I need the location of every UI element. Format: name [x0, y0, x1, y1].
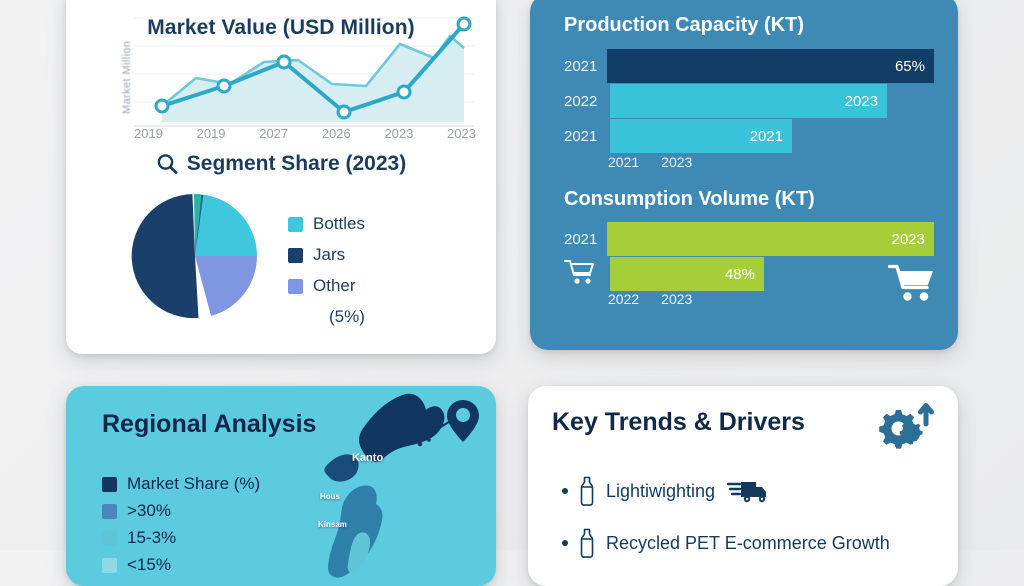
bar-value-label: 48% [725, 266, 764, 283]
bar-production-0: 65% [607, 49, 934, 83]
legend-item: >30% [102, 501, 260, 521]
map-label-hous: Hous [320, 492, 340, 501]
map-label-kanto: Kanto [352, 452, 383, 464]
legend-label: >30% [127, 501, 171, 521]
bar-row: 2022 2023 [564, 84, 934, 118]
bar-production-2: 2021 [610, 119, 792, 153]
map-pin-icon [447, 400, 479, 442]
regional-analysis-card: Kanto Hous Kinsam Regional Analysis Mark… [66, 386, 496, 586]
legend-label: Jars [313, 245, 345, 265]
regional-analysis-title: Regional Analysis [102, 410, 316, 439]
legend-swatch-market-share [102, 477, 117, 492]
line-chart-x-axis: 2019 2019 2027 2026 2023 2023 [134, 126, 476, 141]
legend-label: 15-3% [127, 528, 176, 548]
bar-label: 2022 [564, 93, 610, 110]
production-capacity-title: Production Capacity (KT) [564, 14, 804, 37]
bar-label: 2021 [564, 58, 607, 75]
market-value-line-chart [134, 10, 474, 128]
delivery-truck-icon [727, 477, 769, 505]
production-x-axis: 2021 2023 [608, 154, 692, 170]
legend-item: <15% [102, 555, 260, 575]
bar-production-1: 2023 [610, 84, 887, 118]
legend-item: Jars [288, 245, 365, 265]
pie-slice-jars [132, 194, 199, 318]
x-tick: 2023 [661, 154, 692, 170]
legend-item: Other [288, 276, 365, 296]
bar-value-label: 2021 [750, 128, 792, 145]
x-tick: 2019 [134, 126, 163, 141]
gears-growth-icon [874, 402, 936, 461]
legend-item: Market Share (%) [102, 474, 260, 494]
bar-consumption-0: 2023 [607, 222, 934, 256]
key-trends-title: Key Trends & Drivers [552, 408, 805, 437]
bar-value-label: 65% [895, 58, 934, 75]
legend-swatch-under-15 [102, 558, 117, 573]
segment-share-pie-chart [128, 192, 263, 320]
segment-share-legend: Bottles Jars Other (5%) [288, 214, 365, 327]
bar-consumption-1: 48% [610, 257, 764, 291]
segment-share-title: Segment Share (2023) [187, 152, 406, 176]
bar-row: 48% [564, 257, 934, 291]
legend-label: <15% [127, 555, 171, 575]
legend-label: Bottles [313, 214, 365, 234]
pie-slice-other [195, 256, 257, 316]
list-item[interactable]: Lightiwighting [562, 476, 948, 506]
market-value-card: Market Million Market Value (USD Million… [66, 0, 496, 354]
regional-legend: Market Share (%) >30% 15-3% <15% [102, 474, 260, 582]
legend-swatch-15-3 [102, 531, 117, 546]
bar-value-label: 2023 [892, 231, 934, 248]
trend-label: Lightiwighting [606, 481, 715, 502]
bullet-dot [562, 488, 568, 494]
legend-swatch-bottles [288, 217, 303, 232]
bar-row: 2021 2023 [564, 222, 934, 256]
segment-share-header: Segment Share (2023) [66, 152, 496, 176]
legend-item: Bottles [288, 214, 365, 234]
x-tick: 2022 [608, 291, 639, 307]
key-trends-card: Key Trends & Drivers Lightiwighting [528, 386, 958, 586]
list-item[interactable]: Recycled PET E-commerce Growth [562, 528, 948, 558]
x-tick: 2026 [322, 126, 351, 141]
bottle-icon [578, 528, 596, 558]
trends-list: Lightiwighting [562, 476, 948, 580]
bullet-dot [562, 540, 568, 546]
x-tick: 2023 [447, 126, 476, 141]
legend-label: Market Share (%) [127, 474, 260, 494]
x-tick: 2023 [384, 126, 413, 141]
pie-slice-bottles [195, 195, 257, 256]
consumption-volume-title: Consumption Volume (KT) [564, 188, 815, 211]
legend-swatch-over-30 [102, 504, 117, 519]
legend-swatch-other [288, 279, 303, 294]
x-tick: 2019 [197, 126, 226, 141]
legend-item: 15-3% [102, 528, 260, 548]
trend-label: Recycled PET E-commerce Growth [606, 533, 890, 554]
legend-sub-label: (5%) [329, 307, 365, 327]
bar-value-label: 2023 [845, 93, 887, 110]
x-tick: 2021 [608, 154, 639, 170]
bar-row: 2021 2021 [564, 119, 934, 153]
consumption-x-axis: 2022 2023 [608, 291, 692, 307]
bar-row: 2021 65% [564, 49, 934, 83]
cart-icon-left [564, 258, 610, 290]
bar-label: 2021 [564, 128, 610, 145]
bottle-icon [578, 476, 596, 506]
search-icon [156, 153, 178, 175]
legend-swatch-jars [288, 248, 303, 263]
production-consumption-card: Production Capacity (KT) 2021 65% 2022 2… [530, 0, 958, 350]
legend-label: Other [313, 276, 356, 296]
bar-label: 2021 [564, 231, 607, 248]
infographic-board: Market Million Market Value (USD Million… [0, 0, 1024, 550]
shopping-cart-icon-large [888, 262, 936, 309]
map-label-kinsam: Kinsam [318, 520, 347, 529]
x-tick: 2023 [661, 291, 692, 307]
shopping-cart-icon [564, 258, 596, 286]
x-tick: 2027 [259, 126, 288, 141]
